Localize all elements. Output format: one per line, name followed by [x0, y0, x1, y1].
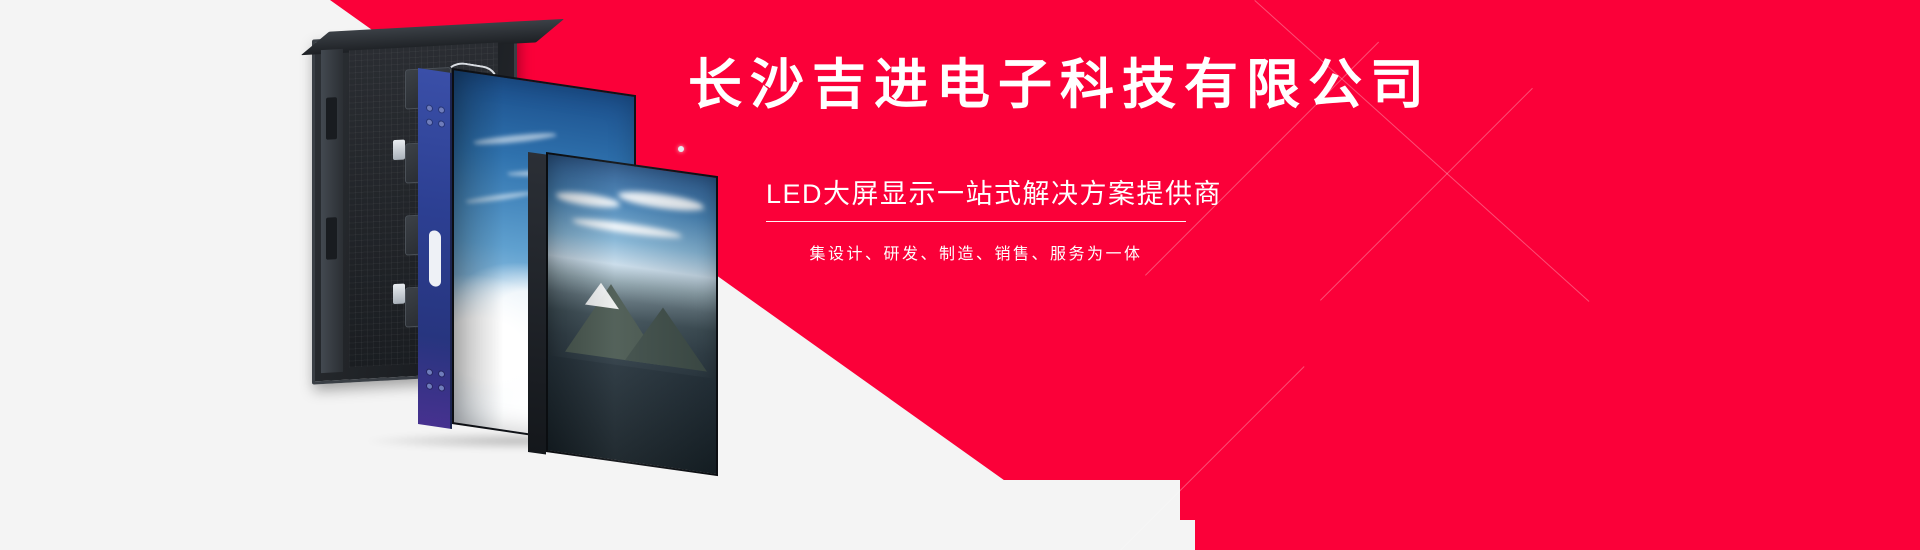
subtitle-group: LED大屏显示一站式解决方案提供商 集设计、研发、制造、销售、服务为一体 — [766, 172, 1186, 264]
page-title: 长沙吉进电子科技有限公司 — [688, 52, 1310, 120]
panel-bolt — [439, 107, 444, 113]
cloud-wisp — [465, 190, 534, 204]
cloud-wisp — [472, 131, 557, 147]
banner-white-strip — [0, 480, 1230, 550]
divider-rule — [766, 221, 1186, 222]
panel-bolt — [427, 119, 432, 125]
cloud-wisp — [556, 189, 620, 210]
panel-bolt — [439, 121, 444, 127]
cloud-wisp — [572, 216, 682, 241]
cabinet-connector — [393, 140, 405, 161]
panel-dark-side-frame — [528, 152, 546, 455]
banner-copy: 长沙吉进电子科技有限公司 LED大屏显示一站式解决方案提供商 集设计、研发、制造… — [670, 52, 1310, 264]
panel-bolt — [427, 105, 432, 111]
banner-tagline: 集设计、研发、制造、销售、服务为一体 — [766, 240, 1186, 264]
panel-bolt — [439, 371, 444, 377]
panel-handle — [429, 230, 441, 288]
cabinet-side-rail — [321, 49, 343, 373]
panel-bolt — [427, 383, 432, 389]
panel-blue-side-frame — [418, 68, 452, 429]
mountain-peak — [625, 303, 707, 373]
panel-bolt — [427, 369, 432, 375]
hero-banner: 长沙吉进电子科技有限公司 LED大屏显示一站式解决方案提供商 集设计、研发、制造… — [0, 0, 1920, 550]
banner-subtitle: LED大屏显示一站式解决方案提供商 — [766, 172, 1186, 211]
mountain-snowcap — [585, 281, 619, 310]
lake-water — [548, 356, 716, 474]
panel-bolt — [439, 385, 444, 391]
cabinet-connector — [393, 284, 405, 305]
